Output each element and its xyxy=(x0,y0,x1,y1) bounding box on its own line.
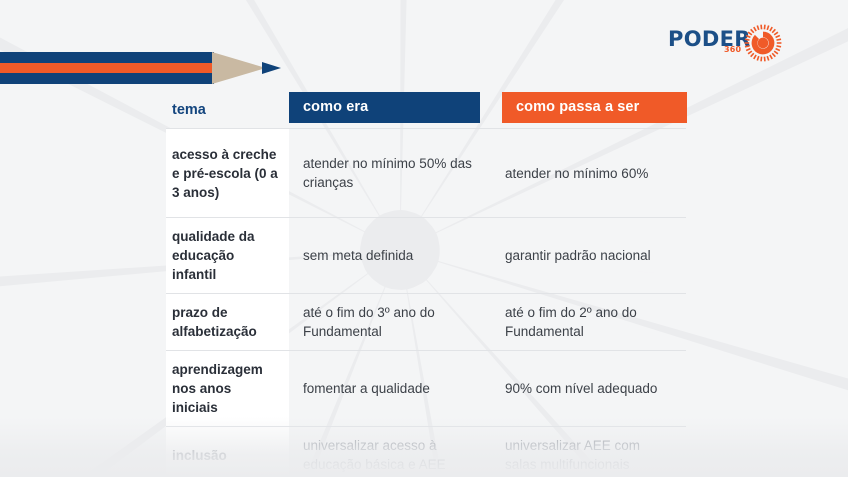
cell-theme: inclusão xyxy=(166,427,289,477)
comparison-table: tema como era como passa a ser acesso à … xyxy=(166,92,686,477)
cell-becomes: até o fim do 2º ano do Fundamental xyxy=(488,294,687,350)
cell-theme: qualidade da educação infantil xyxy=(166,218,289,293)
header-becomes-chip: como passa a ser xyxy=(502,92,687,123)
cell-theme: aprendizagem nos anos iniciais xyxy=(166,351,289,426)
cell-theme: acesso à creche e pré-escola (0 a 3 anos… xyxy=(166,129,289,217)
cell-was: atender no mínimo 50% das crianças xyxy=(289,129,488,217)
cell-was: fomentar a qualidade xyxy=(289,351,488,426)
radial-burst-icon xyxy=(744,24,782,62)
cell-becomes: atender no mínimo 60% xyxy=(488,129,687,217)
header-was-chip: como era xyxy=(289,92,480,123)
logo-suffix: 360 xyxy=(724,45,741,54)
cell-theme: prazo de alfabetização xyxy=(166,294,289,350)
table-row: prazo de alfabetizaçãoaté o fim do 3º an… xyxy=(166,294,686,350)
cell-becomes: 90% com nível adequado xyxy=(488,351,687,426)
table-header-row: tema como era como passa a ser xyxy=(166,92,686,128)
cell-becomes: garantir padrão nacional xyxy=(488,218,687,293)
header-theme: tema xyxy=(166,92,289,128)
cell-was: até o fim do 3º ano do Fundamental xyxy=(289,294,488,350)
cell-was: sem meta definida xyxy=(289,218,488,293)
pencil-icon xyxy=(0,50,282,84)
slide-canvas: PODER 360 tema como era como passa a ser… xyxy=(0,0,848,477)
table-row: qualidade da educação infantilsem meta d… xyxy=(166,218,686,293)
poder360-logo: PODER 360 xyxy=(668,22,780,62)
cell-was: universalizar acesso à educação básica e… xyxy=(289,427,488,477)
header-was-cell: como era xyxy=(289,92,488,128)
table-row: acesso à creche e pré-escola (0 a 3 anos… xyxy=(166,129,686,217)
cell-becomes: universalizar AEE com salas multifuncion… xyxy=(488,427,687,477)
table-row: aprendizagem nos anos iniciaisfomentar a… xyxy=(166,351,686,426)
header-becomes-cell: como passa a ser xyxy=(488,92,687,128)
table-row: inclusãouniversalizar acesso à educação … xyxy=(166,427,686,477)
